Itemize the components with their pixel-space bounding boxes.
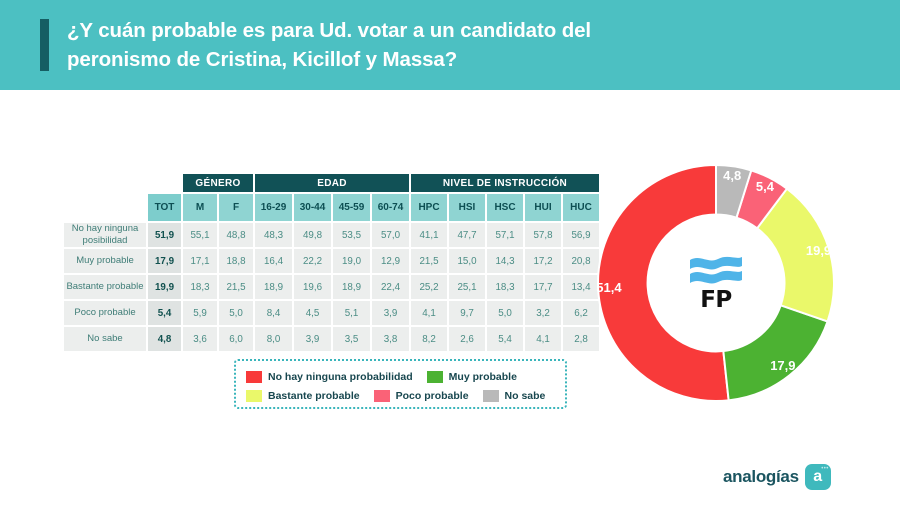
column-header-hsi: HSI bbox=[449, 194, 485, 221]
cell-30-44: 49,8 bbox=[294, 223, 331, 247]
legend-label: Bastante probable bbox=[268, 390, 360, 402]
cell-m: 3,6 bbox=[183, 327, 217, 351]
table-row: No sabe 4,8 3,6 6,0 8,0 3,9 3,5 3,8 8,2 … bbox=[64, 327, 599, 351]
cell-huc: 20,8 bbox=[563, 249, 599, 273]
table-row: Bastante probable 19,9 18,3 21,5 18,9 19… bbox=[64, 275, 599, 299]
cell-16-29: 48,3 bbox=[255, 223, 292, 247]
cell-hsi: 15,0 bbox=[449, 249, 485, 273]
legend-row-1: No hay ninguna probabilidad Muy probable bbox=[246, 367, 555, 386]
cell-tot: 17,9 bbox=[148, 249, 181, 273]
legend-item-no-hay-ninguna-probabilidad: No hay ninguna probabilidad bbox=[246, 371, 413, 383]
cell-tot: 19,9 bbox=[148, 275, 181, 299]
cell-hsi: 25,1 bbox=[449, 275, 485, 299]
cell-m: 18,3 bbox=[183, 275, 217, 299]
header-accent-bar bbox=[40, 19, 49, 71]
column-header-rowlabel-blank bbox=[64, 194, 146, 221]
cell-hsc: 18,3 bbox=[487, 275, 523, 299]
cell-16-29: 8,0 bbox=[255, 327, 292, 351]
cell-45-59: 18,9 bbox=[333, 275, 370, 299]
column-header-hui: HUI bbox=[525, 194, 561, 221]
donut-label-no-sabe: 4,8 bbox=[716, 168, 748, 183]
legend-label: No hay ninguna probabilidad bbox=[268, 371, 413, 383]
legend-swatch-icon bbox=[483, 390, 499, 402]
crosstab-table: GÉNERO EDAD NIVEL DE INSTRUCCIÓN TOT M F… bbox=[62, 172, 601, 353]
legend-item-no-sabe: No sabe bbox=[483, 390, 546, 402]
cell-60-74: 57,0 bbox=[372, 223, 409, 247]
table-column-header-row: TOT M F 16-29 30-44 45-59 60-74 HPC HSI … bbox=[64, 194, 599, 221]
cell-tot: 5,4 bbox=[148, 301, 181, 325]
cell-f: 5,0 bbox=[219, 301, 253, 325]
column-header-60-74: 60-74 bbox=[372, 194, 409, 221]
analogias-mark-icon: a ••• bbox=[805, 464, 831, 490]
row-label: Muy probable bbox=[64, 249, 146, 273]
table-group-header-row: GÉNERO EDAD NIVEL DE INSTRUCCIÓN bbox=[64, 174, 599, 192]
cell-30-44: 3,9 bbox=[294, 327, 331, 351]
row-label: No hay ninguna posibilidad bbox=[64, 223, 146, 247]
cell-hsc: 5,0 bbox=[487, 301, 523, 325]
legend-label: Poco probable bbox=[396, 390, 469, 402]
cell-30-44: 22,2 bbox=[294, 249, 331, 273]
cell-45-59: 53,5 bbox=[333, 223, 370, 247]
table-row: Poco probable 5,4 5,9 5,0 8,4 4,5 5,1 3,… bbox=[64, 301, 599, 325]
cell-huc: 56,9 bbox=[563, 223, 599, 247]
cell-tot: 4,8 bbox=[148, 327, 181, 351]
group-header-genero: GÉNERO bbox=[183, 174, 253, 192]
cell-m: 55,1 bbox=[183, 223, 217, 247]
group-header-blank-label bbox=[64, 174, 146, 192]
cell-30-44: 19,6 bbox=[294, 275, 331, 299]
donut-center-logo: FP bbox=[666, 233, 766, 333]
row-label: Poco probable bbox=[64, 301, 146, 325]
page-title: ¿Y cuán probable es para Ud. votar a un … bbox=[67, 16, 591, 74]
cell-huc: 6,2 bbox=[563, 301, 599, 325]
cell-60-74: 3,9 bbox=[372, 301, 409, 325]
fp-logo-text: FP bbox=[700, 289, 732, 312]
cell-hui: 3,2 bbox=[525, 301, 561, 325]
legend-swatch-icon bbox=[246, 371, 262, 383]
cell-45-59: 5,1 bbox=[333, 301, 370, 325]
donut-label-poco-probable: 5,4 bbox=[749, 179, 781, 194]
cell-hsc: 57,1 bbox=[487, 223, 523, 247]
cell-16-29: 18,9 bbox=[255, 275, 292, 299]
header-band: ¿Y cuán probable es para Ud. votar a un … bbox=[0, 0, 900, 90]
cell-60-74: 3,8 bbox=[372, 327, 409, 351]
data-table-container: GÉNERO EDAD NIVEL DE INSTRUCCIÓN TOT M F… bbox=[62, 172, 601, 353]
brand-name: analogías bbox=[723, 467, 799, 487]
legend-row-2: Bastante probable Poco probable No sabe bbox=[246, 386, 555, 405]
legend-item-bastante-probable: Bastante probable bbox=[246, 390, 360, 402]
table-row: Muy probable 17,9 17,1 18,8 16,4 22,2 19… bbox=[64, 249, 599, 273]
cell-60-74: 22,4 bbox=[372, 275, 409, 299]
group-header-edad: EDAD bbox=[255, 174, 409, 192]
cell-hpc: 4,1 bbox=[411, 301, 447, 325]
column-header-16-29: 16-29 bbox=[255, 194, 292, 221]
column-header-45-59: 45-59 bbox=[333, 194, 370, 221]
cell-hui: 57,8 bbox=[525, 223, 561, 247]
brand-mark-dots: ••• bbox=[821, 466, 829, 472]
column-header-30-44: 30-44 bbox=[294, 194, 331, 221]
column-header-hpc: HPC bbox=[411, 194, 447, 221]
legend-item-poco-probable: Poco probable bbox=[374, 390, 469, 402]
legend-label: No sabe bbox=[505, 390, 546, 402]
cell-45-59: 19,0 bbox=[333, 249, 370, 273]
cell-hsc: 14,3 bbox=[487, 249, 523, 273]
cell-f: 21,5 bbox=[219, 275, 253, 299]
cell-hpc: 25,2 bbox=[411, 275, 447, 299]
donut-label-muy-probable: 17,9 bbox=[767, 358, 799, 373]
column-header-m: M bbox=[183, 194, 217, 221]
cell-60-74: 12,9 bbox=[372, 249, 409, 273]
cell-m: 17,1 bbox=[183, 249, 217, 273]
cell-f: 6,0 bbox=[219, 327, 253, 351]
cell-16-29: 16,4 bbox=[255, 249, 292, 273]
cell-hui: 17,2 bbox=[525, 249, 561, 273]
row-label: No sabe bbox=[64, 327, 146, 351]
cell-16-29: 8,4 bbox=[255, 301, 292, 325]
chart-legend: No hay ninguna probabilidad Muy probable… bbox=[234, 359, 567, 409]
cell-m: 5,9 bbox=[183, 301, 217, 325]
cell-hui: 17,7 bbox=[525, 275, 561, 299]
group-header-blank-tot bbox=[148, 174, 181, 192]
group-header-nivel-instruccion: NIVEL DE INSTRUCCIÓN bbox=[411, 174, 599, 192]
legend-swatch-icon bbox=[374, 390, 390, 402]
cell-hsi: 2,6 bbox=[449, 327, 485, 351]
argentina-flag-icon bbox=[688, 254, 744, 288]
cell-f: 18,8 bbox=[219, 249, 253, 273]
cell-huc: 2,8 bbox=[563, 327, 599, 351]
legend-label: Muy probable bbox=[449, 371, 517, 383]
donut-label-no-hay-ninguna-probabilidad: 51,4 bbox=[593, 280, 625, 295]
cell-hpc: 21,5 bbox=[411, 249, 447, 273]
cell-hui: 4,1 bbox=[525, 327, 561, 351]
column-header-huc: HUC bbox=[563, 194, 599, 221]
cell-45-59: 3,5 bbox=[333, 327, 370, 351]
cell-f: 48,8 bbox=[219, 223, 253, 247]
column-header-f: F bbox=[219, 194, 253, 221]
cell-hsc: 5,4 bbox=[487, 327, 523, 351]
legend-item-muy-probable: Muy probable bbox=[427, 371, 517, 383]
table-row: No hay ninguna posibilidad 51,9 55,1 48,… bbox=[64, 223, 599, 247]
donut-chart: FP 51,4 17,9 19,9 5,4 4,8 bbox=[596, 163, 836, 403]
brand-logo: analogías a ••• bbox=[723, 464, 831, 490]
column-header-tot: TOT bbox=[148, 194, 181, 221]
cell-30-44: 4,5 bbox=[294, 301, 331, 325]
cell-hpc: 8,2 bbox=[411, 327, 447, 351]
legend-swatch-icon bbox=[246, 390, 262, 402]
cell-hpc: 41,1 bbox=[411, 223, 447, 247]
row-label: Bastante probable bbox=[64, 275, 146, 299]
cell-hsi: 47,7 bbox=[449, 223, 485, 247]
legend-swatch-icon bbox=[427, 371, 443, 383]
cell-hsi: 9,7 bbox=[449, 301, 485, 325]
column-header-hsc: HSC bbox=[487, 194, 523, 221]
cell-tot: 51,9 bbox=[148, 223, 181, 247]
donut-label-bastante-probable: 19,9 bbox=[803, 243, 835, 258]
